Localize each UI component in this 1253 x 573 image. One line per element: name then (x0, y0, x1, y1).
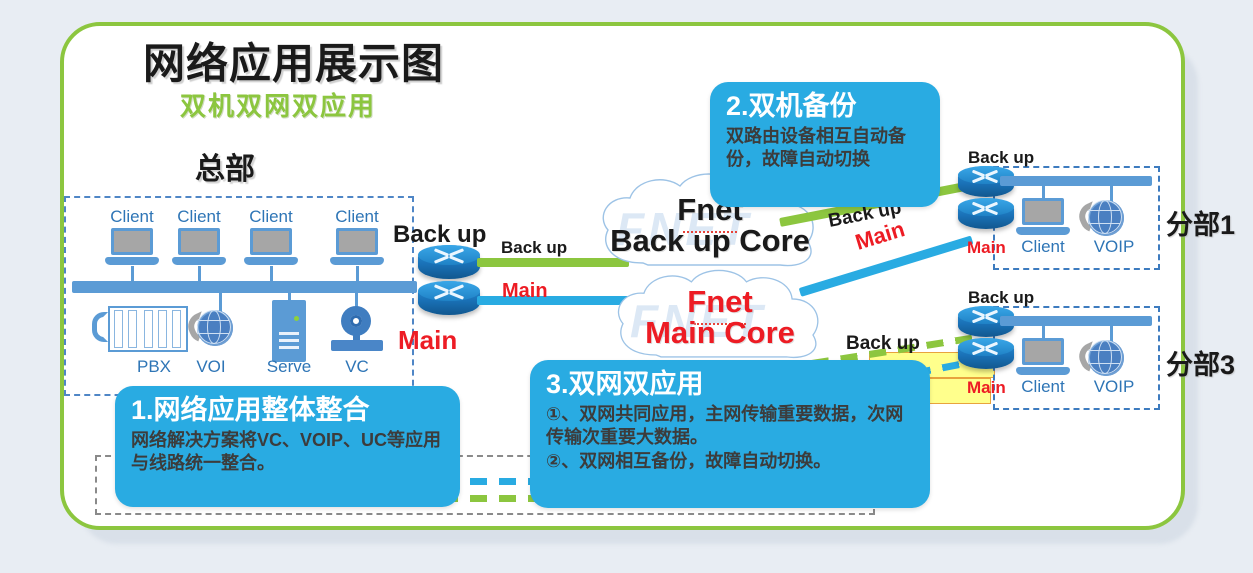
main-core-cloud: FNET Fnet Main Core (604, 262, 832, 372)
hq-client-3-label: Client (243, 208, 299, 225)
laptop-icon (172, 228, 226, 268)
hq-client-1-label: Client (104, 208, 160, 225)
diagram-canvas: 网络应用展示图 双机双网双应用 总部 Client Client Client … (0, 0, 1253, 573)
router-icon-branch1-main (958, 198, 1014, 229)
laptop-icon (105, 228, 159, 268)
link-branch3-backup-label: Back up (846, 333, 920, 355)
headquarters-title: 总部 (195, 144, 255, 188)
server-icon (272, 300, 306, 362)
hq-client-4-stem (356, 266, 359, 284)
branch3-voip-label: VOIP (1086, 378, 1142, 395)
hq-vc-label: VC (329, 358, 385, 375)
hq-client-2-stem (198, 266, 201, 284)
branch3-bus (1000, 316, 1152, 326)
branch3-client-label: Client (1015, 378, 1071, 395)
callout-2-title: 2.双机备份 (726, 92, 924, 122)
callout-3-body: ①、双网共同应用，主网传输重要数据，次网传输次重要大数据。 ②、双网相互备份，故… (546, 403, 914, 474)
callout-3[interactable]: 3.双网双应用 ①、双网共同应用，主网传输重要数据，次网传输次重要大数据。 ②、… (530, 360, 930, 508)
link-hq-backup-label: Back up (501, 238, 567, 258)
backup-core-line2: Back up Core (600, 225, 820, 258)
callout-1[interactable]: 1.网络应用整体整合 网络解决方案将VC、VOIP、UC等应用与线路统一整合。 (115, 386, 460, 507)
hq-router-main-label: Main (398, 325, 457, 356)
callout-3-title: 3.双网双应用 (546, 370, 914, 400)
hq-backbone-bus (72, 281, 417, 293)
hq-client-2-label: Client (171, 208, 227, 225)
router-icon-branch3-main (958, 338, 1014, 369)
page-subtitle: 双机双网双应用 (180, 86, 376, 123)
globe-icon (189, 310, 233, 354)
callout-1-body: 网络解决方案将VC、VOIP、UC等应用与线路统一整合。 (131, 429, 444, 477)
hq-client-3-stem (270, 266, 273, 284)
laptop-icon (1016, 198, 1070, 238)
main-core-line1: Fnet (652, 286, 788, 319)
main-core-line2: Main Core (612, 317, 828, 350)
laptop-icon (1016, 338, 1070, 378)
branch1-router-main-label: Main (967, 238, 1006, 258)
router-icon-hq-main (418, 281, 480, 315)
page-title: 网络应用展示图 (143, 30, 444, 91)
branch1-title: 分部1 (1166, 203, 1235, 242)
router-icon-hq-backup (418, 245, 480, 279)
pbx-icon (92, 306, 188, 352)
hq-pbx-label: PBX (126, 358, 182, 375)
branch1-bus (1000, 176, 1152, 186)
laptop-icon (244, 228, 298, 268)
branch3-title: 分部3 (1166, 343, 1235, 382)
callout-2-body: 双路由设备相互自动备份，故障自动切换 (726, 125, 924, 173)
branch3-router-backup-label: Back up (968, 288, 1034, 308)
hq-server-stem (288, 287, 291, 301)
hq-client-1-stem (131, 266, 134, 284)
callout-1-title: 1.网络应用整体整合 (131, 396, 444, 426)
branch1-router-backup-label: Back up (968, 148, 1034, 168)
camera-icon (331, 306, 383, 354)
laptop-icon (330, 228, 384, 268)
branch1-voip-label: VOIP (1086, 238, 1142, 255)
hq-client-4-label: Client (329, 208, 385, 225)
hq-voip-label: VOI (183, 358, 239, 375)
link-hq-main-label: Main (502, 280, 548, 303)
callout-2[interactable]: 2.双机备份 双路由设备相互自动备份，故障自动切换 (710, 82, 940, 207)
branch1-client-label: Client (1015, 238, 1071, 255)
branch3-router-main-label: Main (967, 378, 1006, 398)
hq-server-label: Serve (261, 358, 317, 375)
